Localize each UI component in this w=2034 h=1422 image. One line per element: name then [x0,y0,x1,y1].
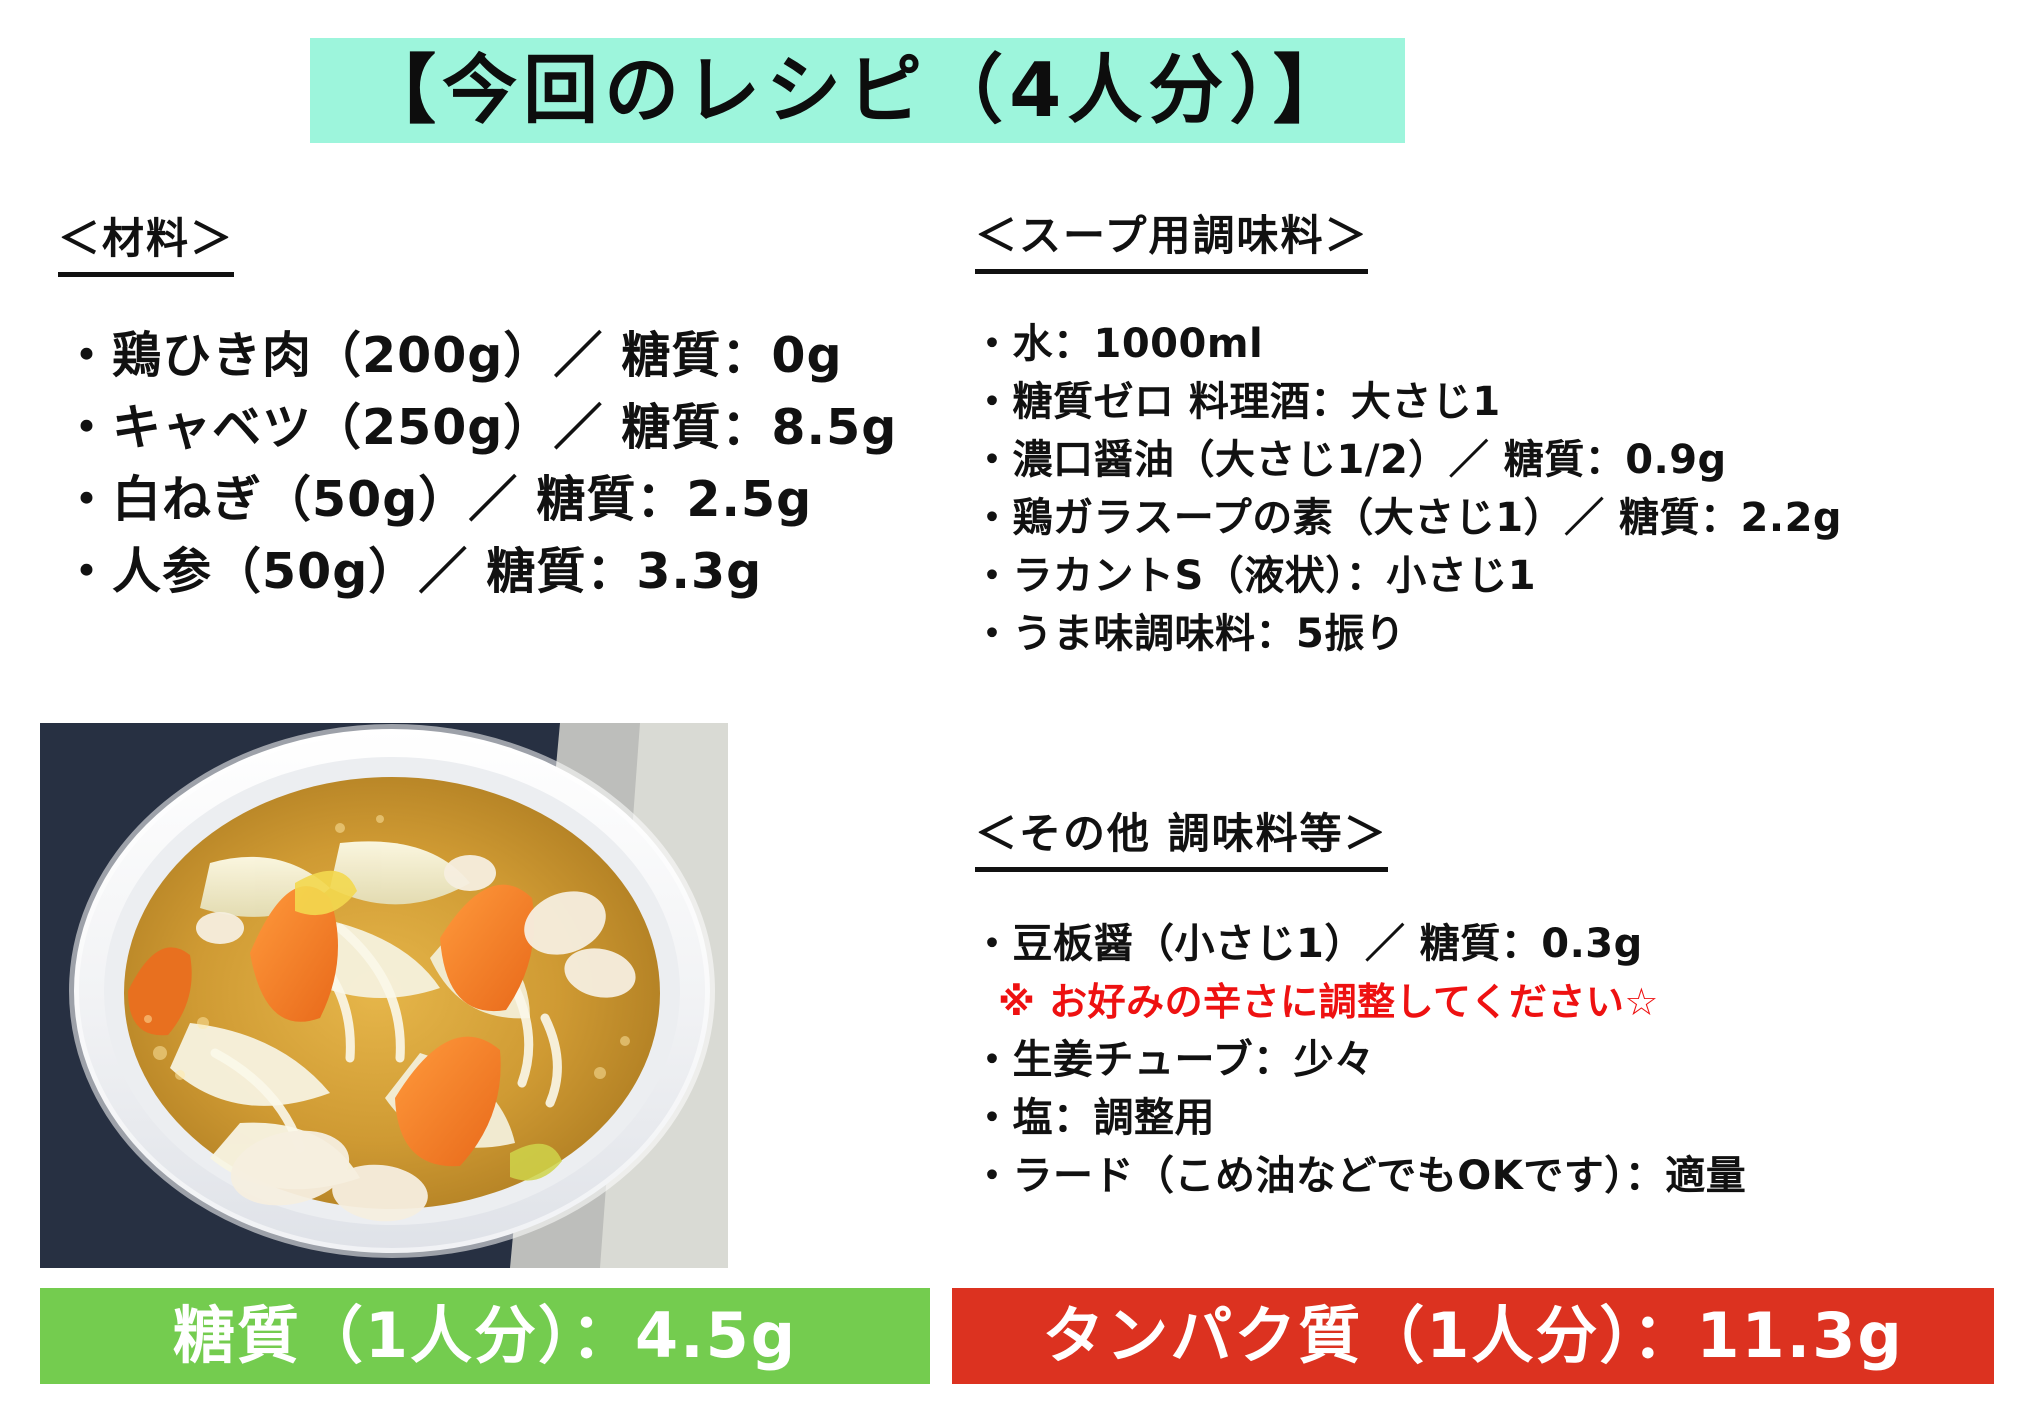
spiciness-note: ※ お好みの辛さに調整してください☆ [972,973,1746,1031]
list-item: ・ラカントS（液状）：小さじ1 [972,547,1842,605]
materials-list: ・鶏ひき肉（200g）／ 糖質：0g ・キャベツ（250g）／ 糖質：8.5g … [62,320,897,608]
protein-per-serving-text: タンパク質（1人分）：11.3g [1042,1305,1904,1367]
list-item: ・濃口醤油（大さじ1/2）／ 糖質：0.9g [972,431,1842,489]
materials-heading: ＜材料＞ [58,205,234,277]
sugar-per-serving-text: 糖質（1人分）：4.5g [173,1305,797,1367]
list-item: ・ラード（こめ油などでもOKです）：適量 [972,1147,1746,1205]
list-item: ・白ねぎ（50g）／ 糖質：2.5g [62,464,897,536]
soup-seasonings-list: ・水：1000ml ・糖質ゼロ 料理酒：大さじ1 ・濃口醤油（大さじ1/2）／ … [972,315,1842,663]
list-item: ・塩：調整用 [972,1089,1746,1147]
recipe-infographic: 【今回のレシピ（4人分）】 ＜材料＞ ・鶏ひき肉（200g）／ 糖質：0g ・キ… [0,0,2034,1422]
list-item: ・水：1000ml [972,315,1842,373]
dish-photo [40,723,728,1268]
protein-per-serving-banner: タンパク質（1人分）：11.3g [952,1288,1994,1384]
list-item: ・豆板醤（小さじ1）／ 糖質：0.3g [972,915,1746,973]
sugar-per-serving-banner: 糖質（1人分）：4.5g [40,1288,930,1384]
dish-photo-image [40,723,728,1268]
soup-seasonings-heading: ＜スープ用調味料＞ [975,202,1368,274]
list-item: ・鶏ひき肉（200g）／ 糖質：0g [62,320,897,392]
list-item: ・人参（50g）／ 糖質：3.3g [62,536,897,608]
other-seasonings-heading: ＜その他 調味料等＞ [975,800,1388,872]
other-seasonings-list: ・豆板醤（小さじ1）／ 糖質：0.3g ※ お好みの辛さに調整してください☆ ・… [972,915,1746,1205]
list-item: ・糖質ゼロ 料理酒：大さじ1 [972,373,1842,431]
list-item: ・鶏ガラスープの素（大さじ1）／ 糖質：2.2g [972,489,1842,547]
list-item: ・生姜チューブ：少々 [972,1031,1746,1089]
list-item: ・キャベツ（250g）／ 糖質：8.5g [62,392,897,464]
title-banner: 【今回のレシピ（4人分）】 [310,38,1405,143]
list-item: ・うま味調味料：5振り [972,605,1842,663]
page-title: 【今回のレシピ（4人分）】 [361,53,1354,128]
